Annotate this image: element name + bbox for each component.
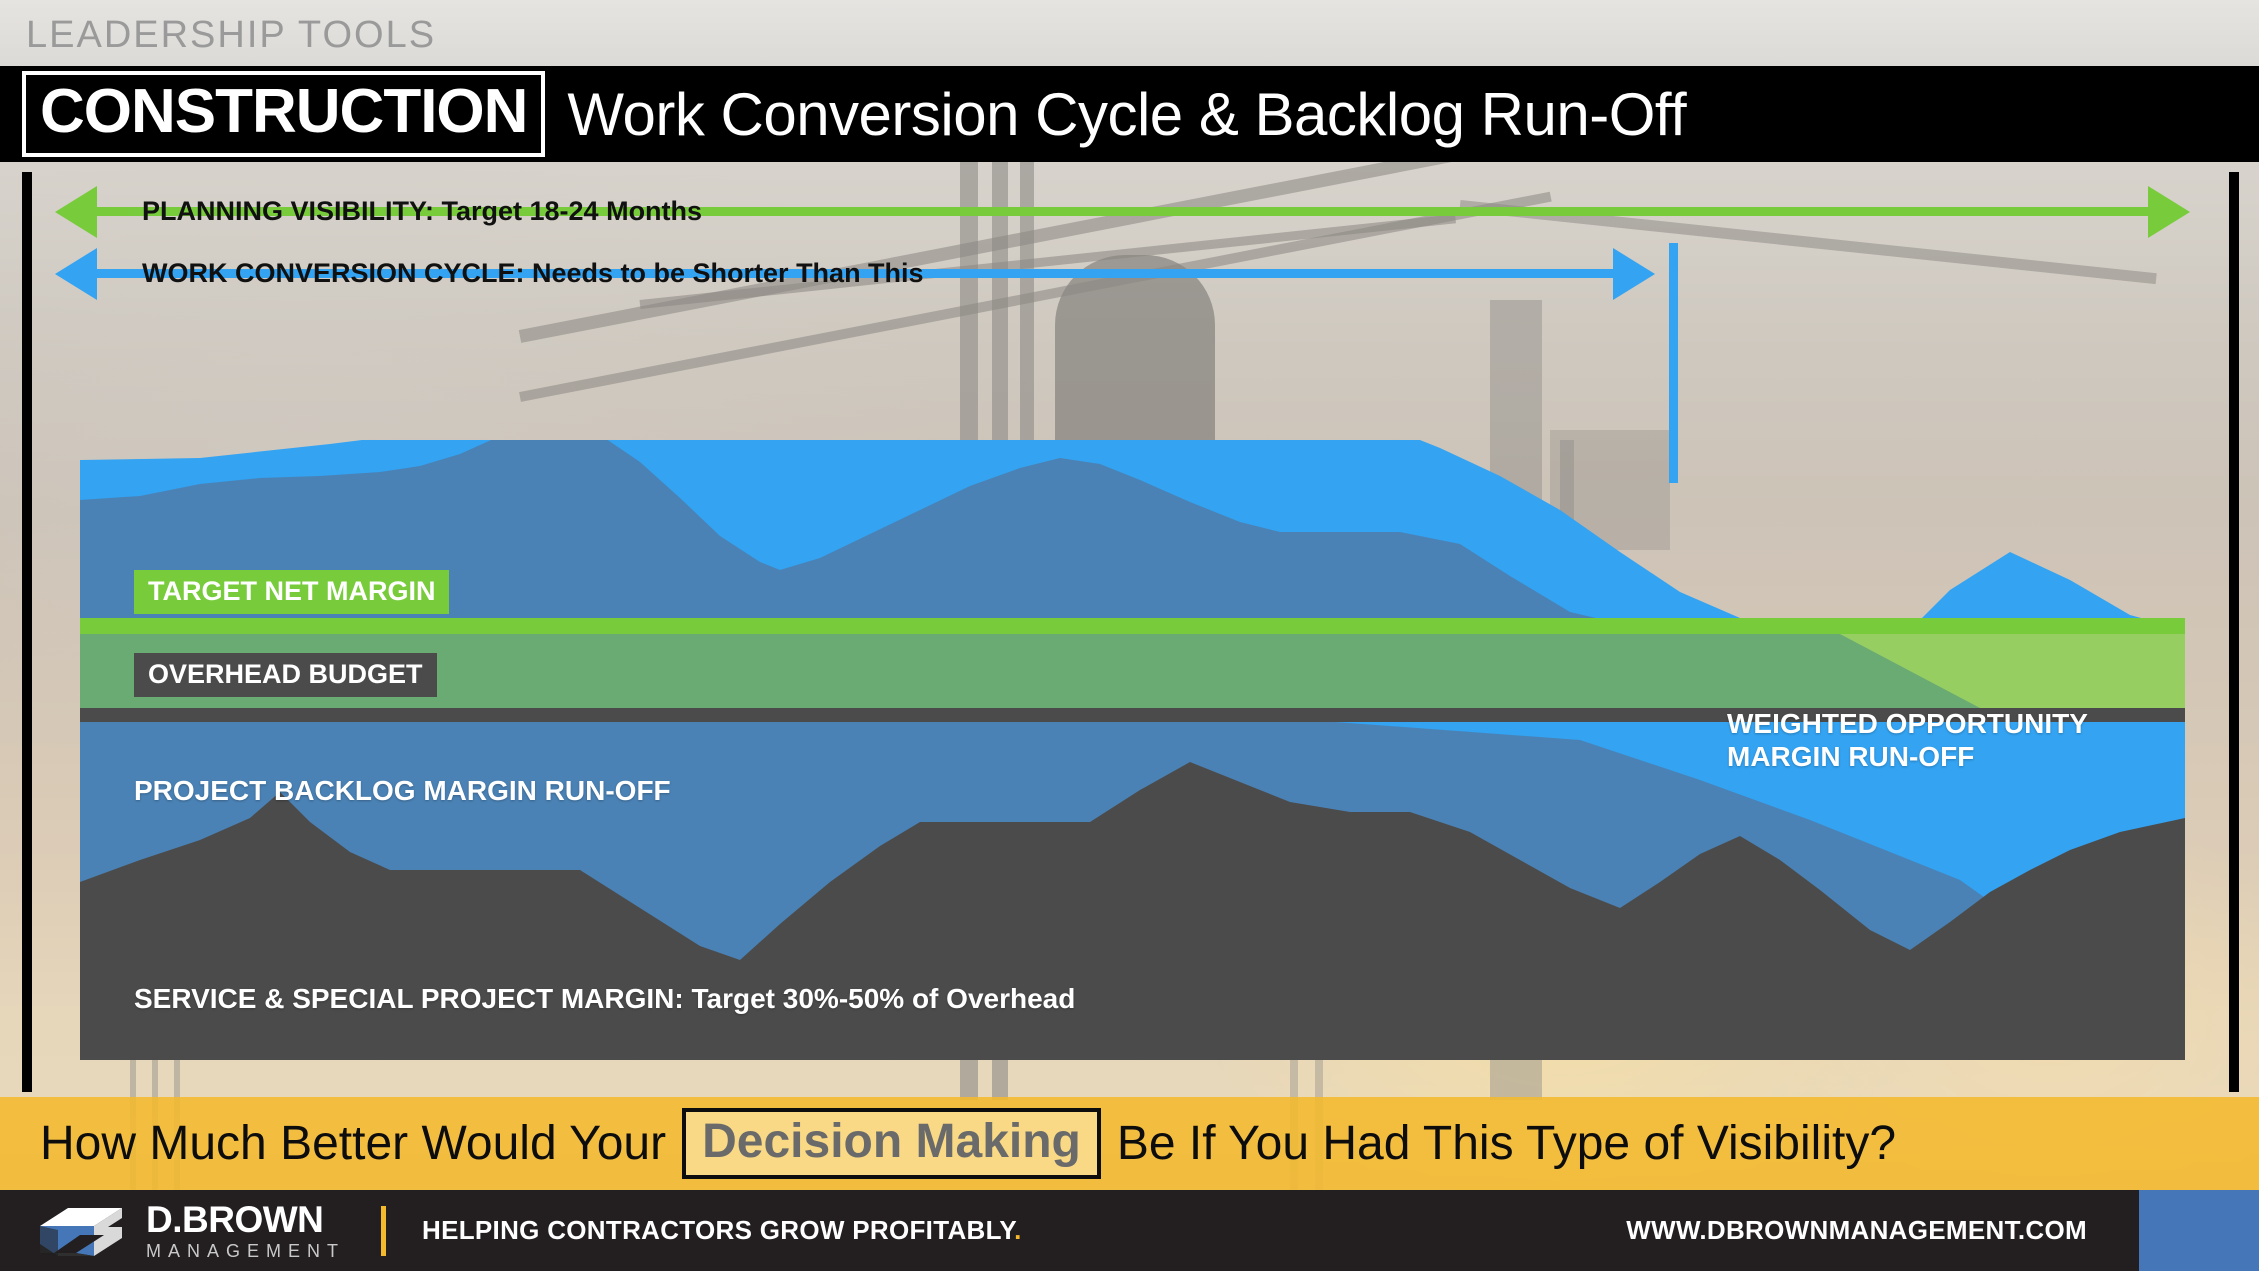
label-weighted-opportunity-line1: WEIGHTED OPPORTUNITY	[1727, 708, 2088, 739]
cta-banner: How Much Better Would Your Decision Maki…	[0, 1097, 2259, 1190]
logo-name: D.BROWN	[146, 1201, 345, 1238]
footer-accent-block	[2139, 1190, 2259, 1271]
cta-after: Be If You Had This Type of Visibility?	[1117, 1116, 1896, 1171]
cta-before: How Much Better Would Your	[40, 1116, 666, 1171]
planning-visibility-arrow-left	[55, 186, 97, 238]
chip-overhead-budget: OVERHEAD BUDGET	[134, 653, 437, 697]
eyebrow-text: LEADERSHIP TOOLS	[26, 14, 436, 57]
planning-visibility-arrow-right	[2148, 186, 2190, 238]
cta-text: How Much Better Would Your Decision Maki…	[40, 1108, 1896, 1179]
page-title: Work Conversion Cycle & Backlog Run-Off	[567, 80, 1686, 149]
label-weighted-opportunity-line2: MARGIN RUN-OFF	[1727, 741, 1974, 772]
dbrown-cube-logo-icon	[34, 1200, 128, 1262]
kicker-badge: CONSTRUCTION	[22, 71, 545, 157]
frame-rule-left	[22, 172, 32, 1092]
rule-target-net-margin	[80, 618, 2185, 634]
label-project-backlog: PROJECT BACKLOG MARGIN RUN-OFF	[134, 775, 671, 807]
footer-tagline: HELPING CONTRACTORS GROW PROFITABLY.	[422, 1215, 1022, 1246]
title-row: CONSTRUCTION Work Conversion Cycle & Bac…	[0, 66, 2259, 162]
planning-visibility-label: PLANNING VISIBILITY: Target 18-24 Months	[132, 196, 712, 227]
cta-highlight: Decision Making	[682, 1108, 1101, 1179]
footer-tagline-dot: .	[1014, 1215, 1022, 1245]
footer-divider	[381, 1206, 386, 1256]
label-weighted-opportunity: WEIGHTED OPPORTUNITY MARGIN RUN-OFF	[1727, 707, 2088, 773]
label-service-special: SERVICE & SPECIAL PROJECT MARGIN: Target…	[134, 983, 1075, 1015]
logo-subtitle: MANAGEMENT	[146, 1242, 345, 1260]
footer-url[interactable]: WWW.DBROWNMANAGEMENT.COM	[1626, 1190, 2087, 1271]
footer-tagline-text: HELPING CONTRACTORS GROW PROFITABLY	[422, 1215, 1014, 1245]
work-conversion-arrow-right	[1613, 248, 1655, 300]
work-conversion-marker-rule	[1669, 243, 1678, 483]
chip-target-net-margin: TARGET NET MARGIN	[134, 570, 449, 614]
logo-wordmark: D.BROWN MANAGEMENT	[146, 1201, 345, 1260]
work-conversion-arrow-left	[55, 248, 97, 300]
cube-icon-svg	[34, 1200, 128, 1262]
work-conversion-label: WORK CONVERSION CYCLE: Needs to be Short…	[132, 258, 934, 289]
frame-rule-right	[2229, 172, 2239, 1092]
